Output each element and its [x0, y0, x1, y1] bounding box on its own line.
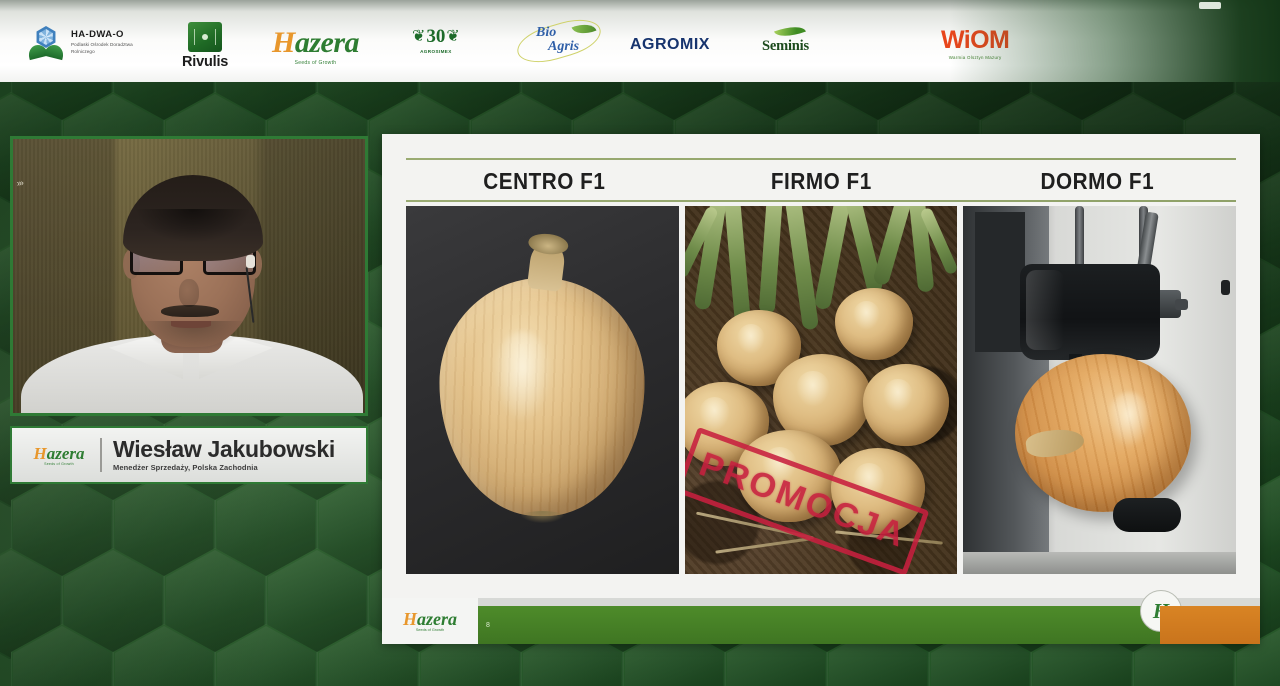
stream-indicator-mark — [1199, 2, 1221, 9]
slide-column-titles: CENTRO F1 FIRMO F1 DORMO F1 — [406, 162, 1236, 200]
sponsor-logo-bar: HA-DWA-O Podlaski Ośrodek Doradztwa Roln… — [0, 0, 1280, 82]
slide-rule-bottom — [406, 200, 1236, 202]
onion-bulb-photo — [440, 278, 645, 516]
nameplate-divider — [100, 438, 102, 472]
slide-rule-top — [406, 158, 1236, 160]
sponsor-logo-agrosimex: ❦ 30 ❦ AGROSIMEX — [412, 26, 460, 54]
sponsor-bar-fade — [950, 0, 1280, 82]
participant-nameplate: Hazera Seeds of Growth Wiesław Jakubowsk… — [10, 426, 368, 484]
sponsor-logo-seminis: Seminis — [762, 26, 809, 55]
nameplate-brand-wordmark: azera — [47, 444, 85, 463]
slide-page-number: 8 — [486, 622, 490, 629]
hazera-tagline: Seeds of Growth — [295, 60, 337, 66]
tester-head — [1020, 264, 1160, 360]
machine-detail — [1221, 280, 1230, 295]
hadwao-emblem-icon — [28, 26, 64, 58]
sponsor-logo-hadwao: HA-DWA-O Podlaski Ośrodek Doradztwa Roln… — [28, 26, 153, 58]
image-panel-firmo: PROMOCJA — [685, 206, 958, 574]
image-panel-dormo — [963, 206, 1236, 574]
footer-brand-initial: H — [403, 609, 417, 629]
slide-footer-accent — [1160, 606, 1260, 644]
sponsor-logo-rivulis: Rivulis — [182, 22, 228, 70]
nameplate-brand-tagline: Seeds of Growth — [44, 462, 74, 466]
slide-image-panels: PROMOCJA — [406, 206, 1236, 574]
hazera-initial: H — [272, 26, 295, 59]
seminis-title: Seminis — [762, 38, 809, 55]
slide-footer-logo: Hazera Seeds of Growth — [382, 598, 478, 644]
slide-footer: Hazera Seeds of Growth 8 H — [382, 598, 1260, 644]
rivulis-emblem-icon — [188, 22, 222, 52]
participant-figure — [13, 136, 368, 413]
nameplate-brand-logo: Hazera Seeds of Growth — [22, 445, 96, 466]
sponsor-logo-hazera: Hazera Seeds of Growth — [272, 28, 359, 66]
broadcast-stage: HA-DWA-O Podlaski Ośrodek Doradztwa Roln… — [0, 0, 1280, 686]
column-title-dormo: DORMO F1 — [973, 168, 1222, 195]
image-panel-centro — [406, 206, 679, 574]
bioagris-line2: Agris — [548, 40, 579, 54]
sponsor-logo-bioagris: Bio Agris — [516, 22, 606, 64]
machine-backdrop-shadow — [975, 212, 1025, 352]
agrosimex-anniversary-number: 30 — [426, 26, 445, 48]
hadwao-subtitle: Podlaski Ośrodek Doradztwa Rolniczego — [71, 42, 153, 55]
wheat-icon-right: ❦ — [446, 29, 459, 45]
presentation-slide[interactable]: CENTRO F1 FIRMO F1 DORMO F1 — [382, 134, 1260, 644]
slide-footer-band: 8 — [478, 606, 1160, 644]
wheat-icon-left: ❦ — [412, 29, 425, 45]
footer-brand-wordmark: azera — [417, 609, 457, 629]
tester-foot — [1113, 498, 1181, 532]
participant-video-tile[interactable]: ››› — [10, 136, 368, 416]
rivulis-title: Rivulis — [182, 54, 228, 70]
column-title-centro: CENTRO F1 — [420, 168, 669, 195]
earbud-icon — [246, 255, 255, 268]
footer-brand-tagline: Seeds of Growth — [416, 628, 444, 632]
sponsor-logo-agromix: AGROMIX — [630, 36, 710, 54]
agromix-title: AGROMIX — [630, 36, 710, 54]
column-title-firmo: FIRMO F1 — [697, 168, 946, 195]
onion-green-tops — [685, 206, 958, 332]
nameplate-brand-initial: H — [33, 444, 46, 463]
participant-name: Wiesław Jakubowski — [113, 438, 335, 461]
onion-under-test — [1015, 354, 1191, 512]
hadwao-title: HA-DWA-O — [71, 29, 153, 40]
participant-role: Menedżer Sprzedaży, Polska Zachodnia — [113, 463, 335, 472]
bench-surface — [963, 552, 1236, 574]
agrosimex-title: AGROSIMEX — [420, 49, 452, 54]
hazera-wordmark: azera — [295, 26, 359, 59]
bioagris-line1: Bio — [536, 26, 556, 40]
